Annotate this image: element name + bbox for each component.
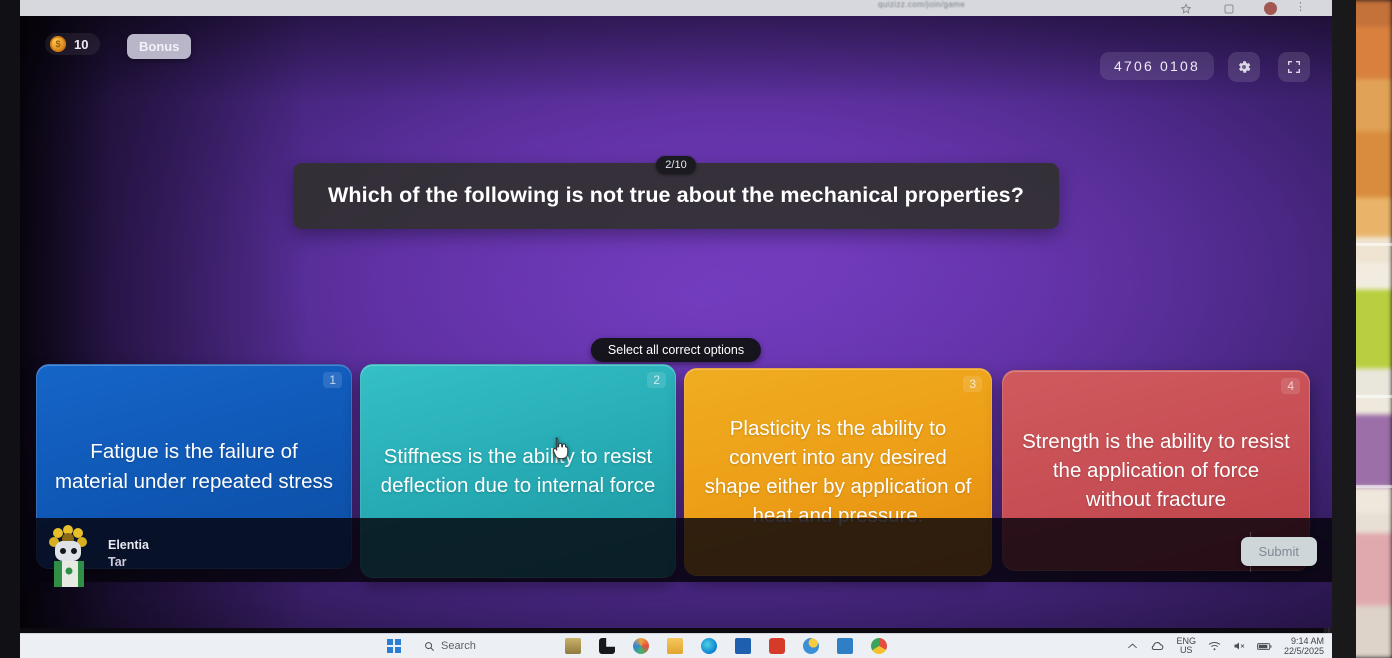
question-section: 2/10 Which of the following is not true … [20, 156, 1332, 229]
store-icon[interactable] [735, 638, 751, 654]
volume-muted-icon[interactable] [1233, 641, 1245, 651]
option-number: 4 [1281, 378, 1300, 394]
language-indicator[interactable]: ENG US [1176, 637, 1196, 655]
question-text: Which of the following is not true about… [328, 182, 1024, 209]
player-avatar-sunflower [42, 523, 98, 587]
fullscreen-icon [1286, 59, 1302, 75]
player-bar: Elentia Tar Submit [20, 518, 1332, 582]
option-text: Fatigue is the failure of material under… [53, 437, 335, 495]
browser-chrome-strip: quizizz.com/join/game ⋮ [20, 0, 1332, 17]
laptop-display: quizizz.com/join/game ⋮ $ 10 Bonus 4706 … [20, 0, 1332, 658]
photos-icon[interactable] [633, 638, 649, 654]
search-label: Search [441, 640, 476, 652]
mouse-cursor-pointer [549, 436, 571, 462]
player-team: Tar [108, 555, 127, 569]
game-pin: 4706 0108 [1100, 52, 1214, 80]
option-text: Stiffness is the ability to resist defle… [377, 442, 659, 500]
windows-taskbar: Search [20, 633, 1332, 658]
taskbar-search[interactable]: Search [424, 640, 476, 652]
coin-icon: $ [50, 36, 66, 52]
option-text: Plasticity is the ability to convert int… [701, 414, 975, 530]
star-icon[interactable] [1180, 2, 1192, 14]
player-name: Elentia [108, 538, 149, 552]
bonus-badge: Bonus [127, 34, 191, 59]
laptop-bezel-left [0, 0, 20, 658]
battery-icon[interactable] [1257, 642, 1272, 651]
gear-icon [1236, 59, 1252, 75]
taskbar-clock[interactable]: 9:14 AM 22/5/2025 [1284, 636, 1324, 656]
mdp-icon[interactable] [837, 638, 853, 654]
firefox-icon[interactable] [769, 638, 785, 654]
system-tray: ENG US 9:14 AM 22/5/2 [1127, 636, 1324, 656]
option-text: Strength is the ability to resist the ap… [1019, 427, 1293, 514]
taskbar-apps [565, 638, 887, 654]
coin-count: 10 [74, 37, 88, 52]
search-icon [424, 641, 435, 652]
option-number: 2 [647, 372, 666, 388]
wifi-icon[interactable] [1208, 641, 1221, 651]
file-explorer-dark-icon[interactable] [599, 638, 615, 654]
widgets-icon[interactable] [565, 638, 581, 654]
settings-button[interactable] [1228, 52, 1260, 82]
chrome-icon[interactable] [871, 638, 887, 654]
quiz-app: $ 10 Bonus 4706 0108 [20, 16, 1332, 628]
option-number: 3 [963, 376, 982, 392]
option-number: 1 [323, 372, 342, 388]
extensions-icon[interactable] [1223, 2, 1235, 14]
show-hidden-icons-chevron[interactable] [1127, 642, 1138, 650]
quiz-topbar: $ 10 Bonus 4706 0108 [20, 16, 1332, 78]
profile-avatar[interactable] [1264, 2, 1277, 15]
laptop-screen-photo: quizizz.com/join/game ⋮ $ 10 Bonus 4706 … [0, 0, 1392, 658]
folder-icon[interactable] [667, 638, 683, 654]
address-bar-text[interactable]: quizizz.com/join/game [878, 0, 965, 9]
submit-button[interactable]: Submit [1241, 537, 1317, 566]
more-menu-icon[interactable]: ⋮ [1295, 2, 1307, 14]
windows-start-icon[interactable] [387, 639, 401, 653]
whiteboard-icon[interactable] [803, 638, 819, 654]
edge-icon[interactable] [701, 638, 717, 654]
coin-counter: $ 10 [45, 33, 100, 55]
fullscreen-button[interactable] [1278, 52, 1310, 82]
onedrive-icon[interactable] [1150, 641, 1164, 651]
question-counter: 2/10 [656, 156, 695, 174]
